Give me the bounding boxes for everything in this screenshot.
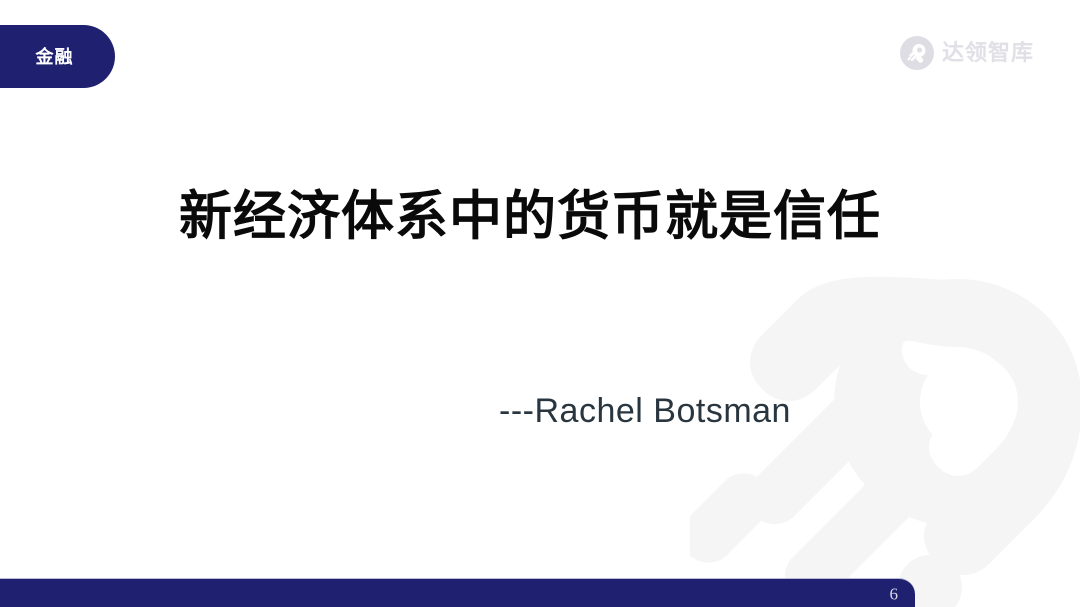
footer-bar: 6	[0, 578, 915, 607]
brand-name-label: 达领智库	[942, 42, 1034, 64]
brand-logo-icon	[900, 36, 934, 70]
slide-attribution: ---Rachel Botsman	[0, 392, 1080, 431]
slide-title: 新经济体系中的货币就是信任	[0, 188, 1060, 246]
category-badge[interactable]: 金融	[0, 25, 115, 88]
slide-canvas: 金融 达领智库 新经济体系中的货币就是信任 ---Rachel Botsman …	[0, 0, 1080, 607]
category-badge-label: 金融	[36, 48, 74, 66]
page-number: 6	[890, 585, 899, 602]
slide-content: 新经济体系中的货币就是信任 ---Rachel Botsman	[0, 0, 1080, 578]
brand-logo: 达领智库	[900, 36, 1034, 70]
